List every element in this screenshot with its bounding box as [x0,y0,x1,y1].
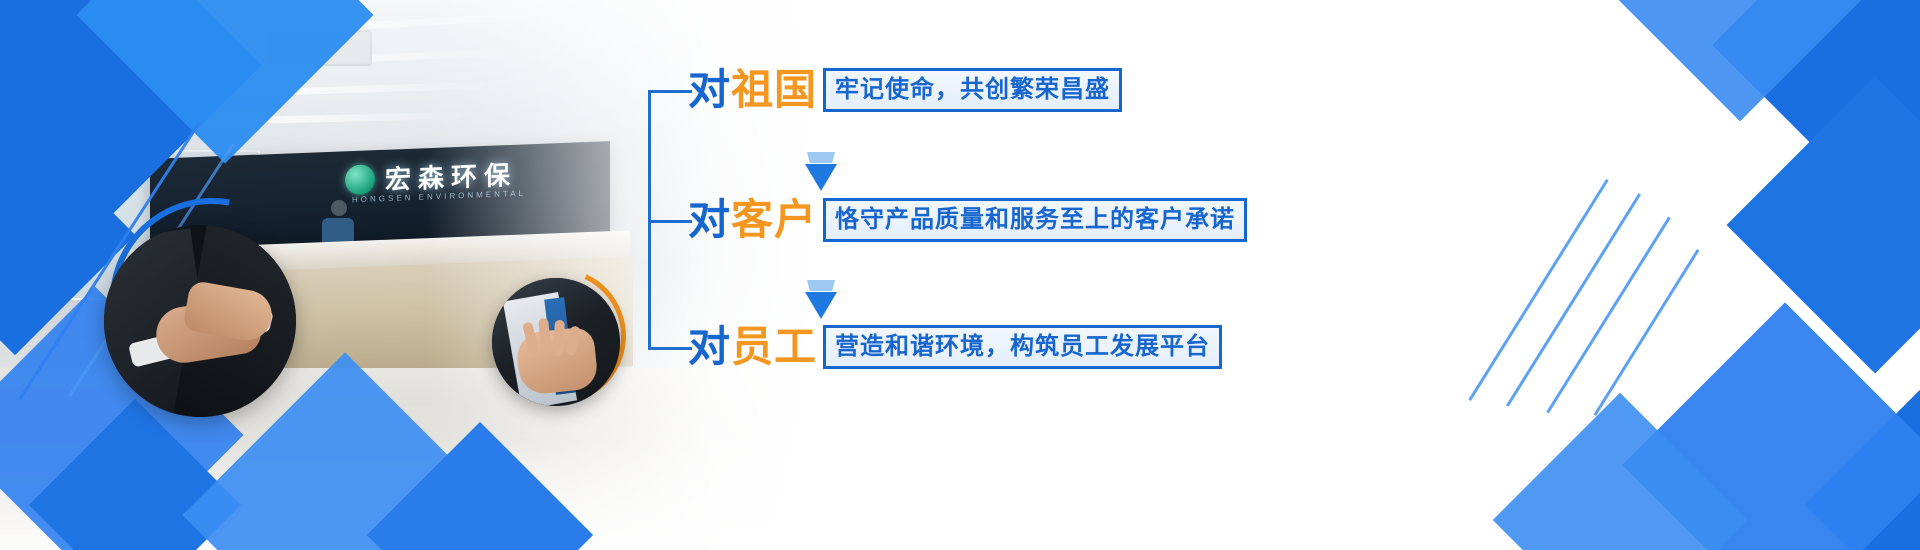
arrow-down-icon [804,280,838,320]
bracket-branch [648,347,692,350]
value-statement-customer: 恪守产品质量和服务至上的客户承诺 [823,198,1247,242]
decorative-line [1594,249,1700,416]
value-prefix: 对 [688,195,731,244]
arrow-tip [805,292,837,319]
value-item-employee: 对员工 营造和谐环境，构筑员工发展平台 [688,321,1222,373]
values-list: 对祖国 牢记使命，共创繁荣昌盛 对客户 恪守产品质量和服务至上的客户承诺 对员工… [648,84,1348,384]
value-label-employee: 对员工 [688,326,817,368]
value-statement-employee: 营造和谐环境，构筑员工发展平台 [823,325,1222,369]
corporate-values-banner: 宏森环保 HONGSEN ENVIRONMENTAL [0,0,1920,550]
value-keyword: 员工 [731,322,817,371]
value-prefix: 对 [688,65,731,114]
bracket-branch [648,90,692,93]
arrow-cap [807,152,835,163]
handshake-photo [104,225,296,417]
arrow-down-icon [804,152,838,192]
finger [553,320,565,356]
value-label-customer: 对客户 [688,199,817,241]
bracket-branch [648,220,692,223]
arrow-cap [807,280,835,291]
value-keyword: 客户 [731,195,817,244]
applause-photo [492,278,620,406]
arrow-tip [805,164,837,191]
value-label-country: 对祖国 [688,69,817,111]
value-prefix: 对 [688,322,731,371]
value-item-customer: 对客户 恪守产品质量和服务至上的客户承诺 [688,194,1247,246]
value-item-country: 对祖国 牢记使命，共创繁荣昌盛 [688,64,1122,116]
value-keyword: 祖国 [731,65,817,114]
decorative-line [1468,179,1608,401]
value-statement-country: 牢记使命，共创繁荣昌盛 [823,68,1122,112]
